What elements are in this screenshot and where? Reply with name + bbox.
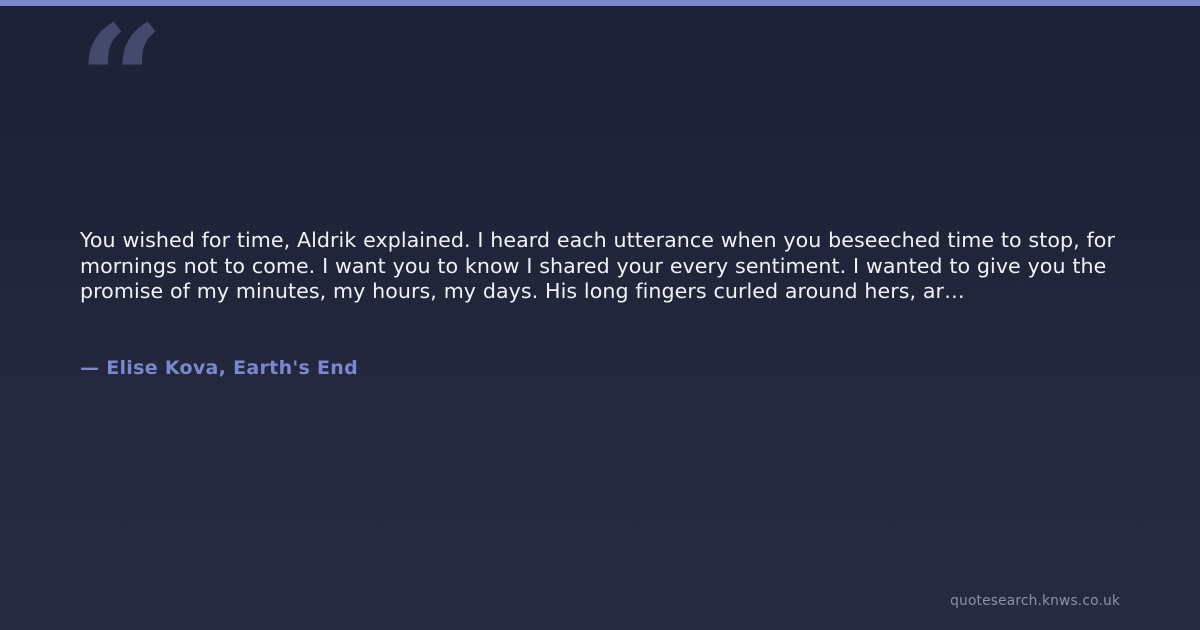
quote-card: “ You wished for time, Aldrik explained.… xyxy=(0,0,1200,630)
open-quote-icon: “ xyxy=(78,6,158,116)
quote-attribution: — Elise Kova, Earth's End xyxy=(80,355,358,381)
source-url: quotesearch.knws.co.uk xyxy=(950,592,1120,610)
top-accent-bar xyxy=(0,0,1200,6)
quote-text: You wished for time, Aldrik explained. I… xyxy=(80,228,1126,305)
